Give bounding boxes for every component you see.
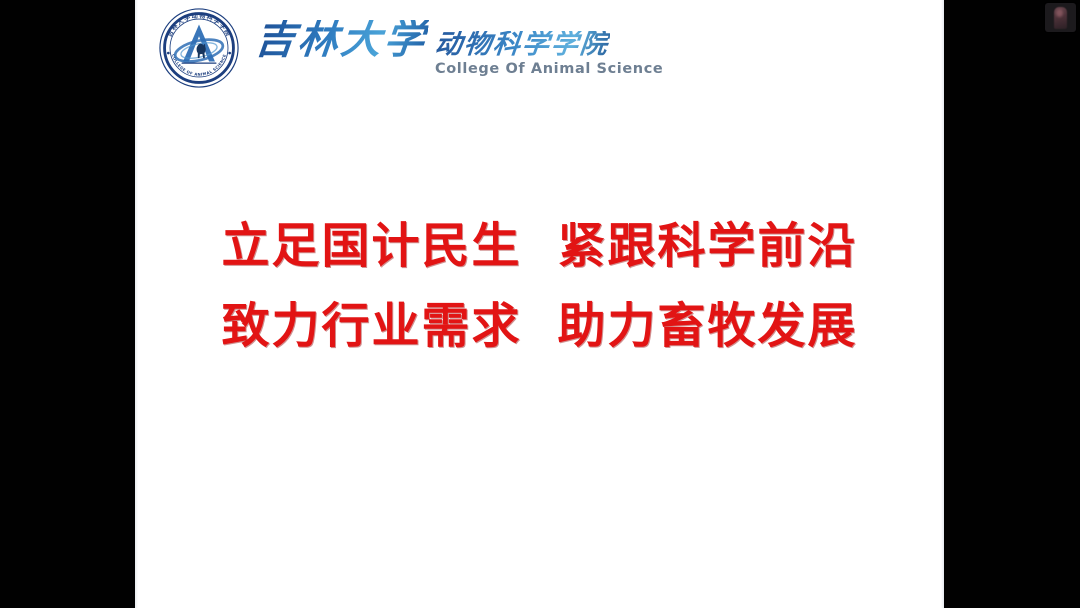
webcam-thumbnail-icon[interactable] bbox=[1045, 3, 1076, 32]
slogan-line-1-second: 紧跟科学前沿 bbox=[558, 218, 858, 274]
slogan-line-2-first: 致力行业需求 bbox=[221, 298, 521, 354]
letterbox-right bbox=[944, 0, 1080, 608]
slogan-line-1: 立足国计民生紧跟科学前沿 bbox=[135, 206, 944, 286]
presentation-slide[interactable]: 吉林大学动物科学学院 COLLEGE OF ANIMAL SCIENCE bbox=[135, 0, 944, 608]
screen-share-viewport: 吉林大学动物科学学院 COLLEGE OF ANIMAL SCIENCE bbox=[0, 0, 1080, 608]
college-name-cn: 动物科学学院 bbox=[434, 31, 611, 59]
pip-glow bbox=[1056, 9, 1063, 17]
slogan-line-1-first: 立足国计民生 bbox=[221, 218, 521, 274]
university-name: 吉林大学 bbox=[253, 20, 429, 60]
university-emblem-icon: 吉林大学动物科学学院 COLLEGE OF ANIMAL SCIENCE bbox=[157, 6, 241, 90]
slogan-block: 立足国计民生紧跟科学前沿 致力行业需求助力畜牧发展 bbox=[135, 206, 944, 366]
letterhead: 吉林大学动物科学学院 COLLEGE OF ANIMAL SCIENCE bbox=[157, 6, 663, 90]
wordmark: 吉林大学 动物科学学院 College Of Animal Science bbox=[255, 18, 663, 77]
letterbox-left bbox=[0, 0, 135, 608]
slogan-line-2: 致力行业需求助力畜牧发展 bbox=[135, 286, 944, 366]
college-name-en: College Of Animal Science bbox=[435, 61, 663, 77]
slogan-line-2-second: 助力畜牧发展 bbox=[558, 298, 858, 354]
